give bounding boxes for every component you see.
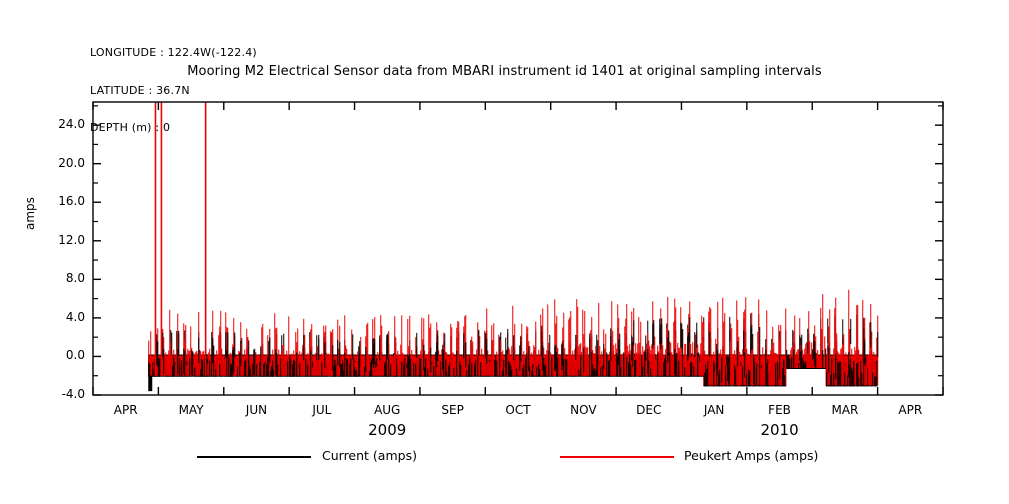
x-tick-label: AUG xyxy=(352,403,422,417)
x-tick-label: NOV xyxy=(548,403,618,417)
year-label: 2010 xyxy=(720,421,840,439)
y-tick-label: 20.0 xyxy=(39,156,85,170)
x-tick-label: JUN xyxy=(221,403,291,417)
x-tick-label: APR xyxy=(91,403,161,417)
x-tick-label: JAN xyxy=(679,403,749,417)
y-tick-label: 4.0 xyxy=(39,310,85,324)
x-tick-label: MAY xyxy=(156,403,226,417)
chart-canvas: LONGITUDE : 122.4W(-122.4) LATITUDE : 36… xyxy=(0,0,1009,504)
legend-line-icon xyxy=(197,456,311,458)
legend-label: Peukert Amps (amps) xyxy=(684,448,818,463)
y-tick-label: 24.0 xyxy=(39,117,85,131)
x-tick-label: SEP xyxy=(418,403,488,417)
x-tick-label: OCT xyxy=(483,403,553,417)
y-tick-label: -4.0 xyxy=(39,387,85,401)
y-tick-label: 0.0 xyxy=(39,348,85,362)
x-tick-label: DEC xyxy=(614,403,684,417)
x-tick-label: APR xyxy=(875,403,945,417)
legend-line-icon xyxy=(560,456,674,458)
chart-legend: Current (amps)Peukert Amps (amps) xyxy=(0,446,1009,472)
x-tick-label: FEB xyxy=(745,403,815,417)
plot-area xyxy=(0,0,1009,504)
x-tick-label: JUL xyxy=(287,403,357,417)
legend-label: Current (amps) xyxy=(322,448,417,463)
year-label: 2009 xyxy=(327,421,447,439)
y-tick-label: 12.0 xyxy=(39,233,85,247)
y-tick-label: 8.0 xyxy=(39,271,85,285)
x-tick-label: MAR xyxy=(810,403,880,417)
y-tick-label: 16.0 xyxy=(39,194,85,208)
